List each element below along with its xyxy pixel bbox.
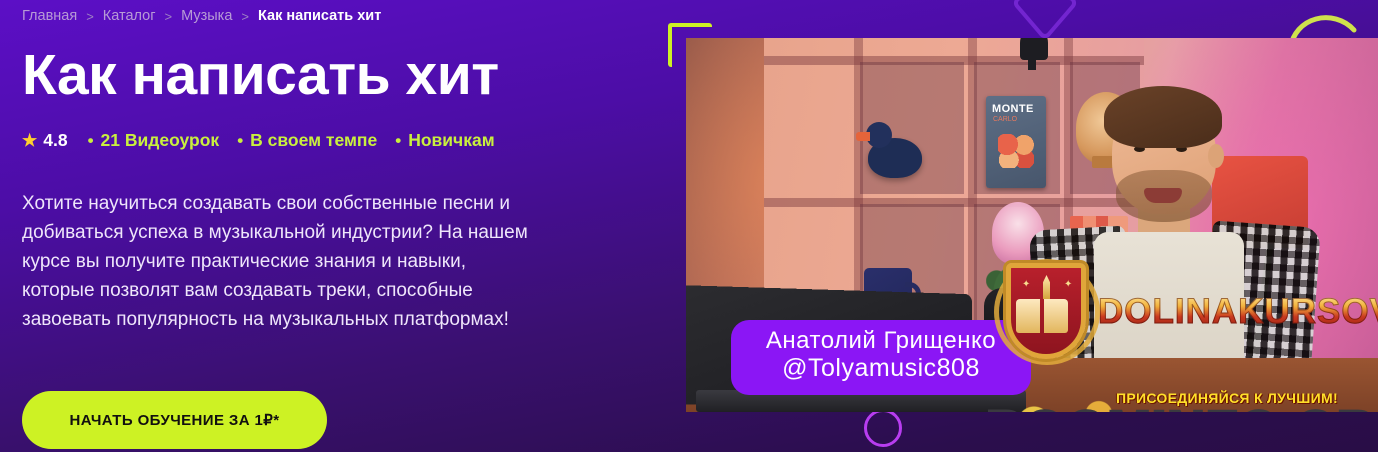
circle-decoration	[864, 409, 902, 447]
course-preview-video[interactable]: MONTE CARLO	[686, 38, 1378, 412]
course-meta-row: ★ 4.8 • 21 Видеоурок • В своем темпе • Н…	[22, 130, 642, 151]
breadcrumb-separator: >	[241, 9, 249, 24]
crest-star: ✦	[1064, 279, 1072, 290]
ear	[1208, 144, 1224, 168]
bullet-icon: •	[237, 132, 243, 149]
crest-star: ✦	[1022, 279, 1030, 290]
breadcrumb-item-music[interactable]: Музыка	[181, 8, 232, 24]
figurine-decor	[1020, 38, 1048, 60]
presenter-name-badge: Анатолий Грищенко @Tolyamusic808	[731, 320, 1031, 395]
breadcrumb: Главная > Каталог > Музыка > Как написат…	[22, 0, 642, 24]
meta-item-level: • Новичкам	[395, 130, 494, 151]
duck-figurine	[868, 138, 922, 178]
mouth	[1144, 188, 1182, 203]
start-course-button[interactable]: НАЧАТЬ ОБУЧЕНИЕ ЗА 1₽*	[22, 391, 327, 449]
crest-book-right	[1044, 299, 1068, 333]
dolinakursov-text: DOLINAKURSOV	[1098, 292, 1378, 332]
monte-book-subtitle: CARLO	[993, 116, 1017, 123]
meta-item-lessons: • 21 Видеоурок	[88, 130, 220, 151]
bullet-icon: •	[395, 132, 401, 149]
dolinakursov-watermark: ✦ ✦ DOLINAKURSOV	[988, 253, 1378, 371]
breadcrumb-item-catalog[interactable]: Каталог	[103, 8, 156, 24]
star-icon: ★	[22, 132, 37, 149]
hero-media-column: MONTE CARLO	[642, 0, 1378, 452]
crest-emblem-icon: ✦ ✦	[988, 253, 1106, 371]
rating-value: 4.8	[43, 130, 67, 151]
hero-text-column: Главная > Каталог > Музыка > Как написат…	[22, 0, 642, 452]
triangle-decoration-icon	[1014, 0, 1076, 38]
bullet-icon: •	[88, 132, 94, 149]
hair	[1104, 86, 1222, 148]
presenter-handle: @Tolyamusic808	[747, 354, 1015, 383]
presenter-name: Анатолий Грищенко	[747, 328, 1015, 354]
meta-item-label: В своем темпе	[250, 130, 377, 151]
meta-item-pace: • В своем темпе	[237, 130, 377, 151]
breadcrumb-item-home[interactable]: Главная	[22, 8, 77, 24]
meta-item-label: Новичкам	[408, 130, 494, 151]
breadcrumb-separator: >	[86, 9, 94, 24]
page-title: Как написать хит	[22, 46, 642, 105]
duck-beak	[856, 132, 870, 141]
course-description: Хотите научиться создавать свои собствен…	[22, 189, 542, 334]
breadcrumb-item-current: Как написать хит	[258, 8, 381, 24]
boominfo-watermark: BOOMINFO.ORG ОГРОМНЫЙ ВЫБОР КУРСОВ, ТРЕН…	[986, 400, 1378, 412]
meta-item-label: 21 Видеоурок	[101, 130, 220, 151]
crest-book-left	[1016, 299, 1040, 333]
breadcrumb-separator: >	[165, 9, 173, 24]
boominfo-text: BOOMINFO.ORG	[986, 400, 1378, 412]
